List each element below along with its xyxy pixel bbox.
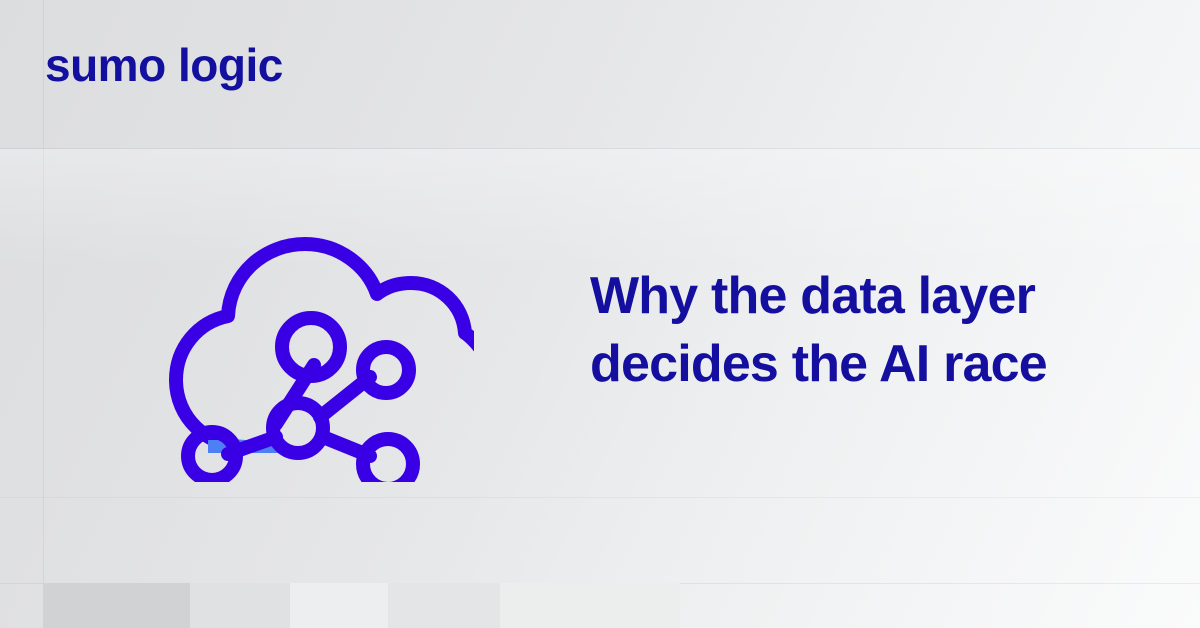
bottom-block-5 [500,583,680,628]
horizontal-divider-lower [0,497,1200,498]
headline-line-2: decides the AI race [590,330,1130,398]
cloud-network-icon-svg [124,232,474,482]
social-card-canvas: sumo logic Why the data layer decid [0,0,1200,628]
sumo-logic-logo: sumo logic [45,42,283,88]
node-top-right [363,347,409,393]
bottom-block-4 [388,583,500,628]
bottom-block-1 [43,583,190,628]
bottom-block-2 [190,583,290,628]
headline-line-1: Why the data layer [590,262,1130,330]
bottom-block-strip [0,583,1200,628]
cloud-network-icon [124,232,474,482]
vertical-divider-left [43,0,44,628]
bottom-block-3 [290,583,388,628]
page-title: Why the data layer decides the AI race [590,262,1130,398]
horizontal-divider-top [0,148,1200,149]
